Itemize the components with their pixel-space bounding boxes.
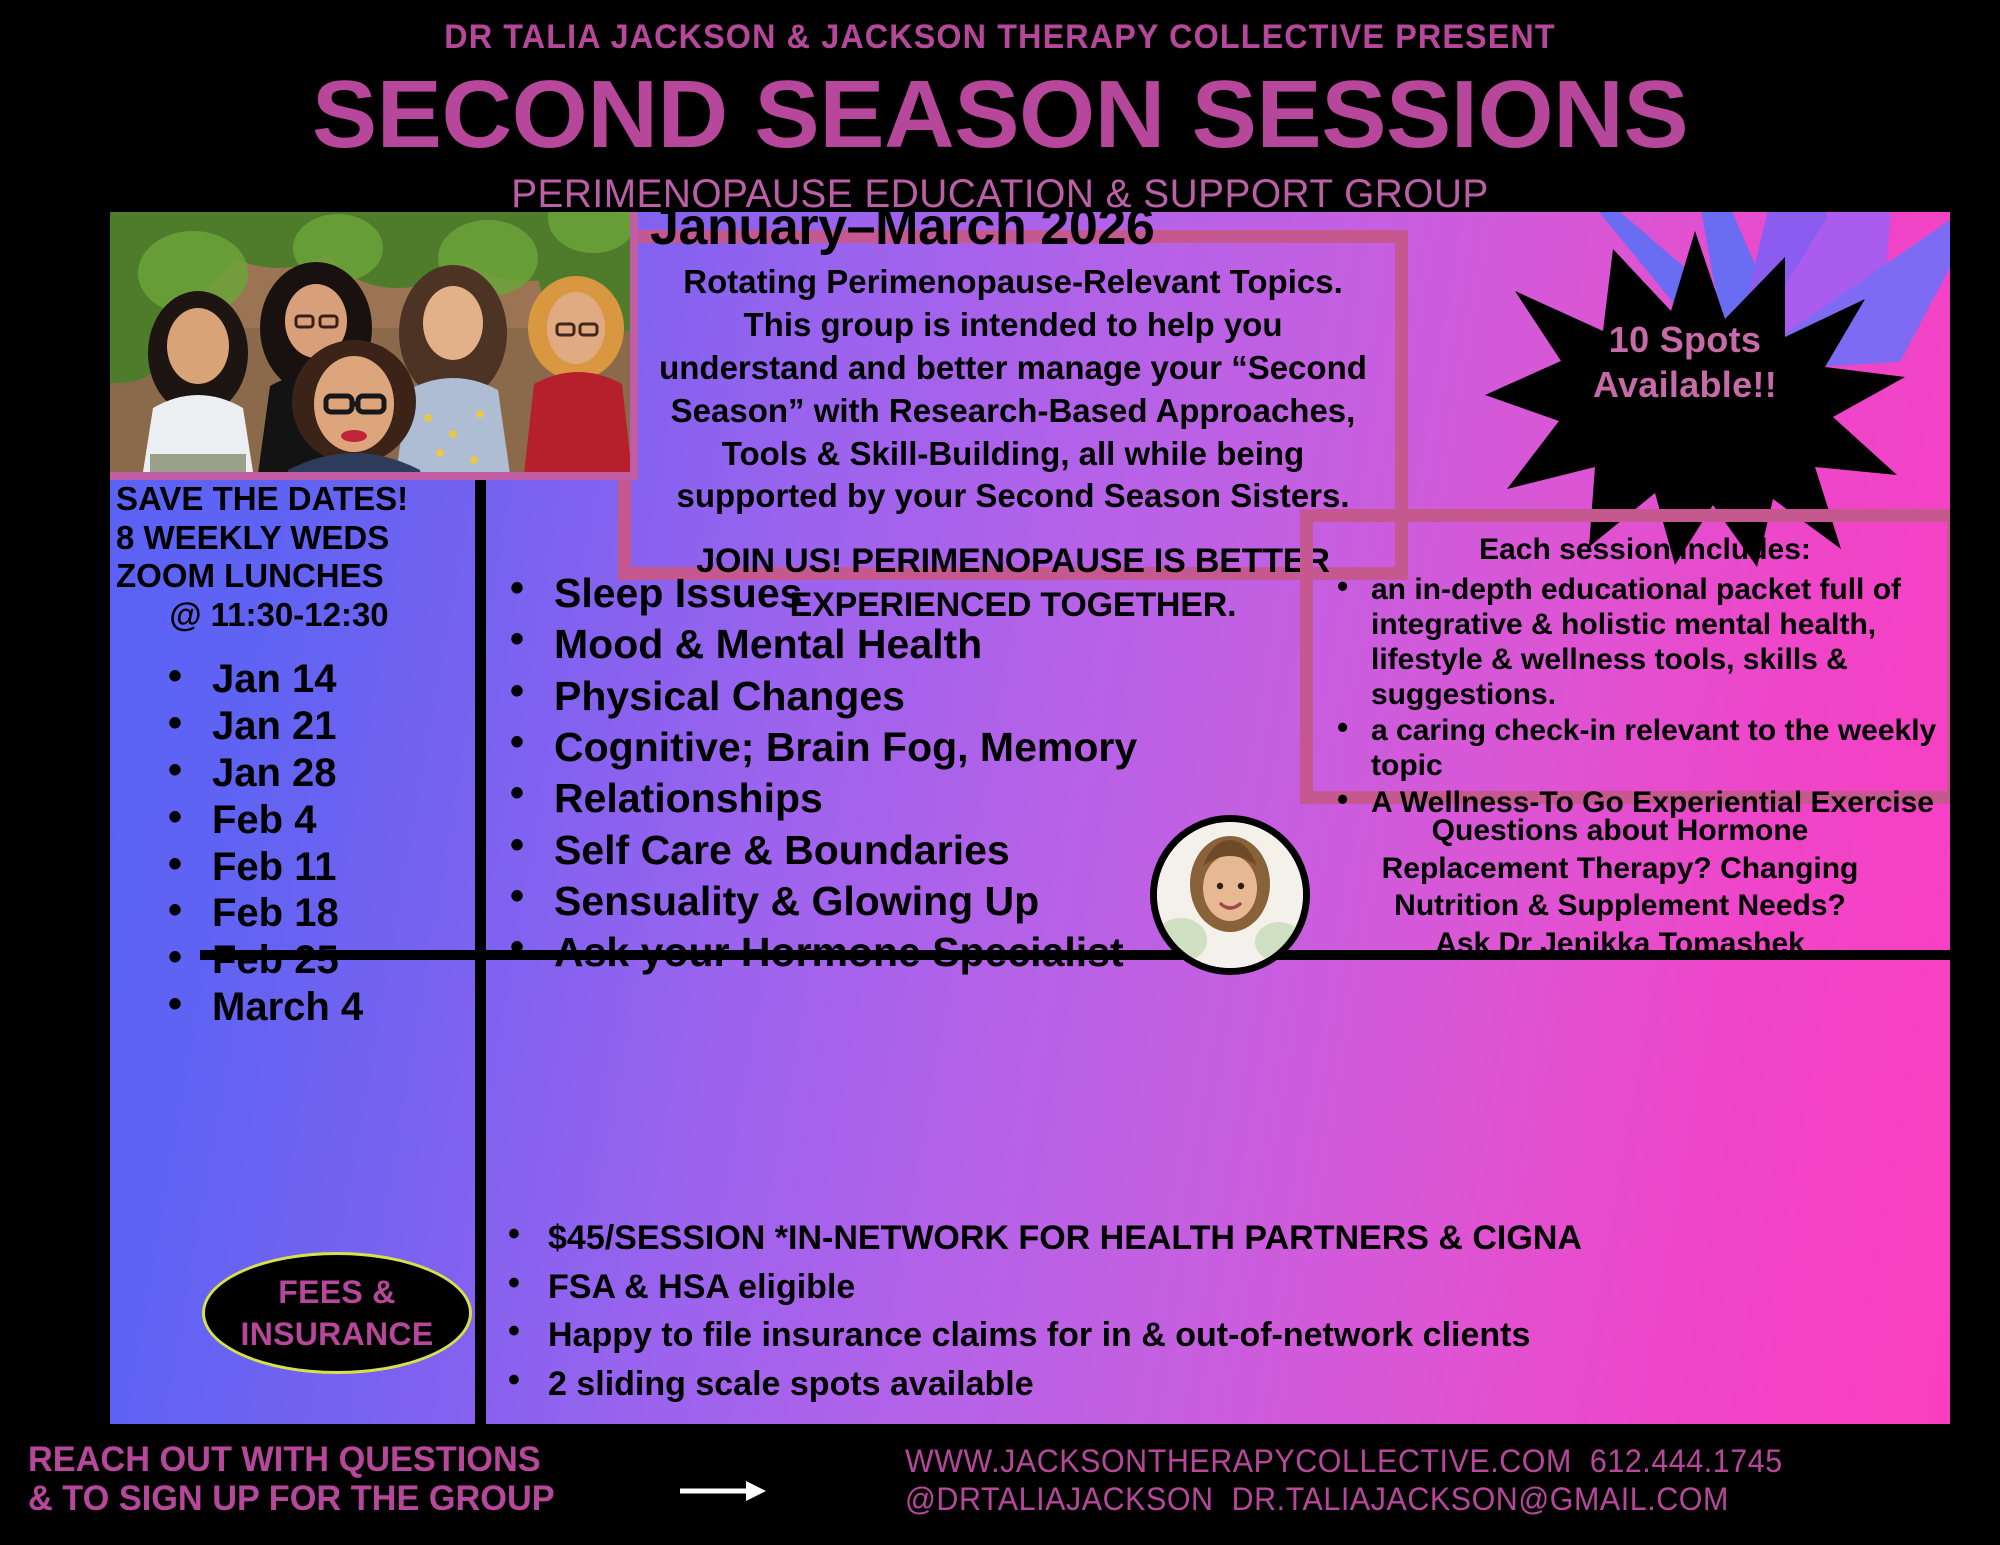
horizontal-divider <box>200 950 1950 960</box>
dates-heading: January–March 2026 <box>650 212 1154 257</box>
footer-cta-line2: & TO SIGN UP FOR THE GROUP <box>28 1479 555 1518</box>
schedule-headlines: SAVE THE DATES! 8 WEEKLY WEDS ZOOM LUNCH… <box>110 480 462 634</box>
list-item: Physical Changes <box>502 673 1262 719</box>
list-item: Jan 28 <box>160 750 462 797</box>
footer-website[interactable]: WWW.JACKSONTHERAPYCOLLECTIVE.COM <box>905 1443 1572 1479</box>
list-item: Feb 4 <box>160 797 462 844</box>
schedule-column: SAVE THE DATES! 8 WEEKLY WEDS ZOOM LUNCH… <box>110 480 462 1031</box>
schedule-line-1: SAVE THE DATES! <box>116 480 462 519</box>
schedule-line-3: ZOOM LUNCHES <box>116 557 462 596</box>
footer-handle[interactable]: @DRTALIAJACKSON <box>905 1481 1214 1517</box>
list-item: FSA & HSA eligible <box>502 1266 1922 1309</box>
header-kicker: DR TALIA JACKSON & JACKSON THERAPY COLLE… <box>50 0 1950 54</box>
list-item: Mood & Mental Health <box>502 621 1262 667</box>
list-item: $45/SESSION *IN-NETWORK FOR HEALTH PARTN… <box>502 1217 1922 1260</box>
footer-phone[interactable]: 612.444.1745 <box>1590 1443 1783 1479</box>
schedule-line-4: @ 11:30-12:30 <box>116 596 462 635</box>
hormone-note-line3: Nutrition & Supplement Needs? <box>1290 887 1950 925</box>
list-item: Jan 14 <box>160 656 462 703</box>
description-box: Rotating Perimenopause-Relevant Topics. … <box>618 230 1408 580</box>
session-includes-list: an in-depth educational packet full of i… <box>1321 572 1939 820</box>
main-panel: 10 Spots Available!! <box>110 212 1950 1424</box>
flyer-root: DR TALIA JACKSON & JACKSON THERAPY COLLE… <box>0 0 2000 1545</box>
page-title: SECOND SEASON SESSIONS <box>0 66 2000 164</box>
list-item: Feb 11 <box>160 844 462 891</box>
group-photo <box>110 212 630 472</box>
list-item: Sleep Issues <box>502 570 1262 616</box>
header-subtitle: PERIMENOPAUSE EDUCATION & SUPPORT GROUP <box>30 174 1970 214</box>
list-item: Feb 25 <box>160 937 462 984</box>
list-item: Sensuality & Glowing Up <box>502 878 1262 924</box>
schedule-line-2: 8 WEEKLY WEDS <box>116 519 462 558</box>
group-photo-frame <box>110 212 638 480</box>
list-item: Feb 18 <box>160 890 462 937</box>
list-item: 2 sliding scale spots available <box>502 1363 1922 1406</box>
spots-badge-line1: 10 Spots <box>1570 317 1800 362</box>
list-item: Cognitive; Brain Fog, Memory <box>502 724 1262 770</box>
hormone-note-line1: Questions about Hormone <box>1290 812 1950 850</box>
hormone-note: Questions about Hormone Replacement Ther… <box>1290 812 1950 962</box>
spots-badge-line2: Available!! <box>1570 362 1800 407</box>
arrow-right-icon <box>680 1478 766 1504</box>
hormone-note-line2: Replacement Therapy? Changing <box>1290 850 1950 888</box>
fees-badge-line2: INSURANCE <box>241 1313 434 1355</box>
list-item: Jan 21 <box>160 703 462 750</box>
list-item: Relationships <box>502 775 1262 821</box>
list-item: March 4 <box>160 984 462 1031</box>
avatar <box>1150 815 1310 975</box>
header: DR TALIA JACKSON & JACKSON THERAPY COLLE… <box>0 0 2000 212</box>
list-item: a caring check-in relevant to the weekly… <box>1333 713 1939 783</box>
topics-list: Sleep Issues Mood & Mental Health Physic… <box>502 570 1262 981</box>
footer-email[interactable]: DR.TALIAJACKSON@GMAIL.COM <box>1232 1481 1729 1517</box>
session-includes-box: Each session includes: an in-depth educa… <box>1300 509 1950 804</box>
footer-contact: WWW.JACKSONTHERAPYCOLLECTIVE.COM 612.444… <box>905 1442 1783 1519</box>
list-item: an in-depth educational packet full of i… <box>1333 572 1939 712</box>
session-includes-title: Each session includes: <box>1321 532 1939 568</box>
fees-insurance-badge: FEES & INSURANCE <box>202 1252 472 1374</box>
vertical-divider <box>475 417 486 1424</box>
fees-list: $45/SESSION *IN-NETWORK FOR HEALTH PARTN… <box>502 1217 1922 1411</box>
footer-cta: REACH OUT WITH QUESTIONS & TO SIGN UP FO… <box>28 1440 555 1518</box>
footer-cta-line1: REACH OUT WITH QUESTIONS <box>28 1440 555 1479</box>
description-body: Rotating Perimenopause-Relevant Topics. … <box>653 261 1373 518</box>
fees-badge-line1: FEES & <box>278 1271 395 1313</box>
session-date-list: Jan 14 Jan 21 Jan 28 Feb 4 Feb 11 Feb 18… <box>110 656 462 1030</box>
list-item: Self Care & Boundaries <box>502 827 1262 873</box>
spots-badge: 10 Spots Available!! <box>1570 317 1800 407</box>
list-item: Happy to file insurance claims for in & … <box>502 1314 1922 1357</box>
